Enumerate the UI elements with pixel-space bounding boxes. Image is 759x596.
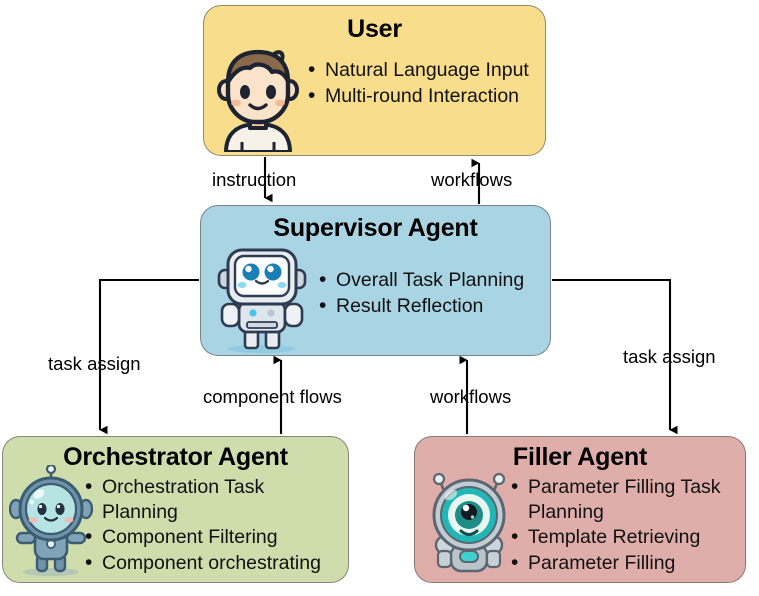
node-supervisor-title: Supervisor Agent <box>201 215 550 241</box>
node-supervisor-agent[interactable]: Supervisor Agent <box>200 205 551 356</box>
filler-robot-icon <box>423 465 515 577</box>
bullet: Template Retrieving <box>511 525 743 550</box>
edge-label-workflows-filler: workflows <box>430 388 511 407</box>
bullet: Orchestration Task Planning <box>85 475 345 524</box>
bullet: Result Reflection <box>319 294 545 319</box>
node-supervisor-bullets: Overall Task Planning Result Reflection <box>319 268 545 319</box>
bullet: Multi-round Interaction <box>308 84 540 109</box>
node-user-title: User <box>204 16 545 42</box>
edge-label-task-assign-right: task assign <box>623 348 716 367</box>
bullet: Natural Language Input <box>308 58 540 83</box>
edge-label-task-assign-left: task assign <box>48 355 141 374</box>
diagram-canvas: User <box>0 0 759 596</box>
edge-label-instruction: instruction <box>212 171 296 190</box>
bullet: Overall Task Planning <box>319 268 545 293</box>
edge-label-workflows-to-user: workflows <box>431 171 512 190</box>
node-filler-agent[interactable]: Filler Agent <box>414 436 746 583</box>
node-orchestrator-agent[interactable]: Orchestrator Agent <box>2 436 349 583</box>
node-user[interactable]: User <box>203 5 546 156</box>
bullet: Component orchestrating <box>85 551 345 576</box>
edge-label-component-flows: component flows <box>203 388 342 407</box>
user-avatar-icon <box>212 48 304 152</box>
bullet: Parameter Filling <box>511 551 743 576</box>
bullet: Component Filtering <box>85 525 345 550</box>
node-orchestrator-bullets: Orchestration Task Planning Component Fi… <box>85 475 345 576</box>
orchestrator-robot-icon <box>9 465 93 577</box>
bullet: Parameter Filling Task Planning <box>511 475 743 524</box>
node-user-bullets: Natural Language Input Multi-round Inter… <box>308 58 540 109</box>
node-filler-bullets: Parameter Filling Task Planning Template… <box>511 475 743 576</box>
supervisor-robot-icon <box>213 244 311 354</box>
